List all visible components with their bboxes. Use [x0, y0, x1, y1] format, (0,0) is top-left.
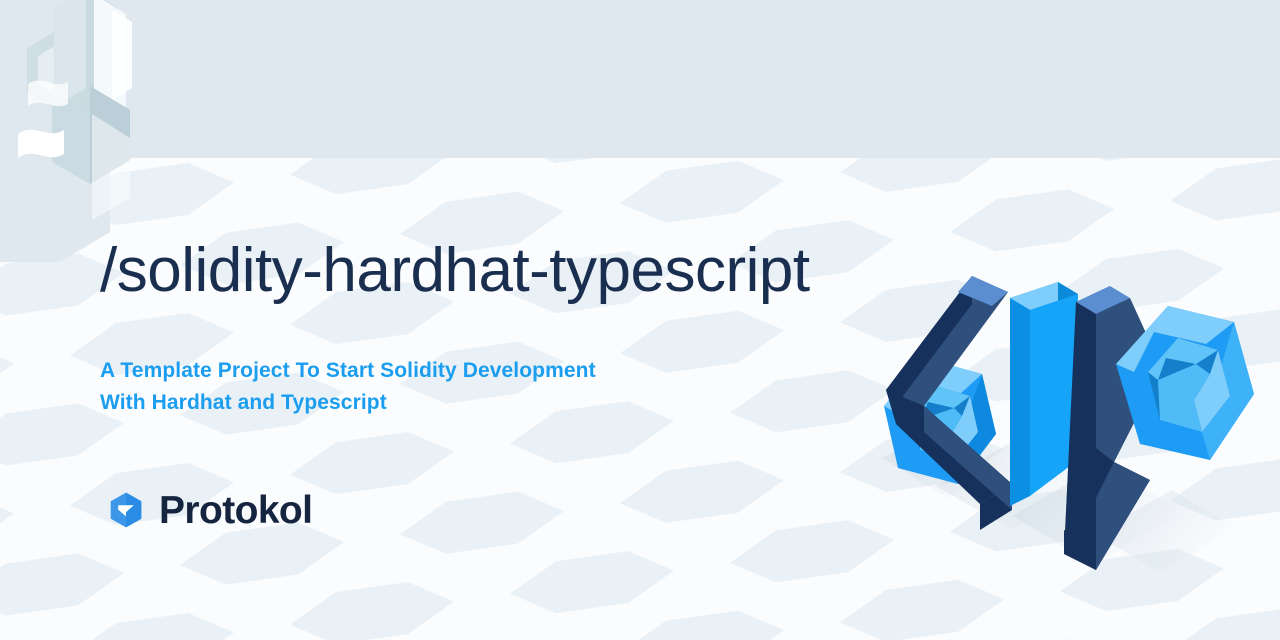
- content-area: /solidity-hardhat-typescript A Template …: [100, 0, 920, 640]
- social-preview-card: /solidity-hardhat-typescript A Template …: [0, 0, 1280, 640]
- page-title: /solidity-hardhat-typescript: [100, 238, 810, 303]
- brand-lockup: Protokol: [106, 490, 312, 530]
- subtitle: A Template Project To Start Solidity Dev…: [100, 355, 740, 419]
- subtitle-line-1: A Template Project To Start Solidity Dev…: [100, 355, 740, 387]
- protokol-hexagon-logo-icon: [106, 490, 146, 530]
- brand-name: Protokol: [159, 491, 312, 530]
- subtitle-line-2: With Hardhat and Typescript: [100, 387, 740, 419]
- isometric-code-brackets-icon: [862, 248, 1262, 608]
- bracket-right: [1064, 286, 1162, 570]
- slash-bright: [1010, 282, 1078, 506]
- header-band-left-extension: [0, 0, 110, 300]
- hex-ring-right: [1116, 306, 1254, 460]
